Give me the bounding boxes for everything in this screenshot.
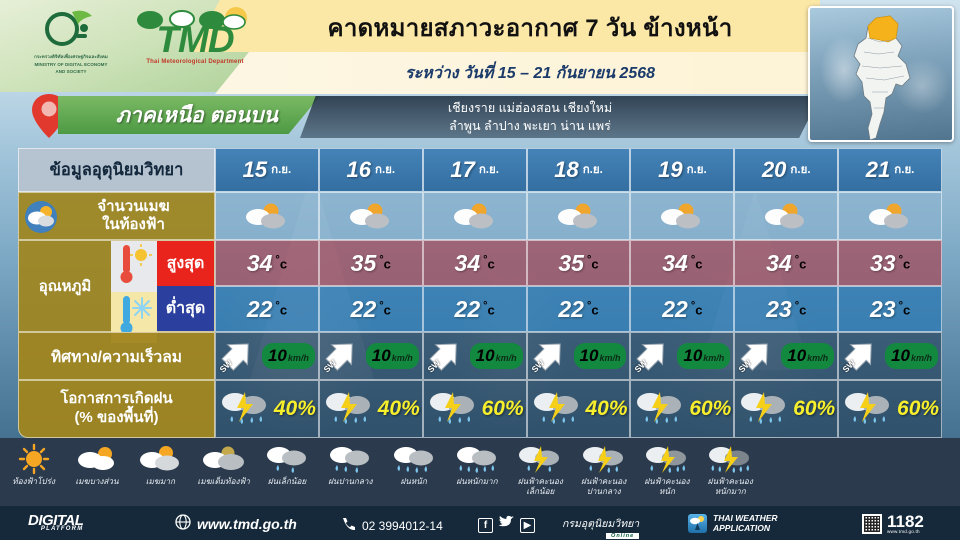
partly-cloudy-icon: [550, 200, 608, 232]
legend-item-overcast: เมฆเต็มท้องฟ้า: [192, 440, 255, 487]
wind-speed-badge: 10 km/h: [677, 343, 730, 369]
day-number: 20: [762, 157, 786, 183]
day-header-4: 19 ก.ย.: [630, 148, 734, 192]
wind-row-label: ทิศทาง/ความเร็วลม: [18, 332, 215, 380]
wind-speed-badge: 10 km/h: [574, 343, 627, 369]
wind-cell-0: SW 10 km/h: [215, 332, 319, 380]
online-badge: Online: [606, 533, 639, 539]
rain-probability: 60%: [897, 397, 939, 421]
rain-probability: 60%: [482, 397, 524, 421]
tmin-value: 23: [766, 296, 792, 323]
storm-very-heavy-icon: [707, 442, 753, 476]
wind-arrow-icon: SW: [738, 336, 778, 376]
tmax-cell-2: 34°c: [423, 240, 527, 286]
rain-probability: 40%: [378, 397, 420, 421]
cloud-label-text: จำนวนเมฆ ในท้องฟ้า: [97, 198, 169, 234]
thailand-map: [808, 6, 954, 142]
wind-speed-badge: 10 km/h: [781, 343, 834, 369]
day-month: ก.ย.: [894, 161, 914, 179]
day-number: 15: [243, 157, 267, 183]
thunderstorm-icon: [426, 386, 480, 432]
rain-cell-6: 60%: [838, 380, 942, 438]
rain-cell-2: 60%: [423, 380, 527, 438]
temp-min-row: 22°c 22°c 22°c 22°c 22°c 23°c 23°c: [215, 286, 942, 332]
tmax-value: 34: [766, 250, 792, 277]
cloud-label-line-2: ในท้องฟ้า: [102, 216, 165, 233]
cloud-cell-6: [838, 192, 942, 240]
legend-strip: ท้องฟ้าโปร่ง เมฆบางส่วน เมฆมาก เมฆเต็มท้…: [0, 438, 960, 506]
thunderstorm-icon: [841, 386, 895, 432]
youtube-icon[interactable]: ▶: [520, 518, 535, 533]
temp-unit: °c: [691, 300, 703, 317]
day-number: 16: [347, 157, 371, 183]
wind-cell-1: SW 10 km/h: [319, 332, 423, 380]
wind-speed-unit: km/h: [288, 353, 309, 363]
tmin-value: 23: [870, 296, 896, 323]
wind-cell-4: SW 10 km/h: [630, 332, 734, 380]
wind-arrow-icon: SW: [427, 336, 467, 376]
legend-label: ฝนฟ้าคะนอง หนักมาก: [708, 477, 753, 497]
tmax-cell-3: 35°c: [527, 240, 631, 286]
app-line-1: THAI WEATHER: [713, 513, 778, 523]
tmin-cell-4: 22°c: [630, 286, 734, 332]
hotline-number: 1182 www.tmd.go.th: [887, 513, 924, 535]
footer-app[interactable]: THAI WEATHER APPLICATION: [688, 514, 778, 534]
rain-probability: 40%: [585, 397, 627, 421]
tmax-value: 34: [662, 250, 688, 277]
thermometer-icons: [111, 241, 157, 331]
wind-speed-unit: km/h: [911, 353, 932, 363]
day-month: ก.ย.: [687, 161, 707, 179]
wind-speed-value: 10: [372, 346, 391, 366]
ministry-mark-icon: [32, 6, 110, 52]
legend-item-light-storm: ฝนฟ้าคะนอง เล็กน้อย: [509, 440, 572, 497]
region-name: ภาคเหนือ ตอนบน: [116, 99, 278, 132]
cloud-sun-2-icon: [137, 442, 183, 476]
temperature-values: 34°c 35°c 34°c 35°c 34°c 34°c 33°c 22°c …: [215, 240, 942, 332]
rain-light-icon: [264, 442, 310, 476]
legend-label: ฝนเล็กน้อย: [268, 477, 306, 487]
legend-item-moderate-storm: ฝนฟ้าคะนอง ปานกลาง: [572, 440, 635, 497]
legend-item-very-heavy-storm: ฝนฟ้าคะนอง หนักมาก: [699, 440, 762, 497]
temp-unit: °c: [795, 254, 807, 271]
wind-row: ทิศทาง/ความเร็วลม SW 10 km/h SW 10: [18, 332, 942, 380]
rain-heavy-icon: [391, 442, 437, 476]
thunderstorm-icon: [737, 386, 791, 432]
day-number: 19: [658, 157, 682, 183]
day-header-5: 20 ก.ย.: [734, 148, 838, 192]
tmin-cell-1: 22°c: [319, 286, 423, 332]
temp-unit: °c: [379, 254, 391, 271]
wind-speed-badge: 10 km/h: [262, 343, 315, 369]
region-banner: ภาคเหนือ ตอนบน: [58, 96, 320, 134]
day-month: ก.ย.: [790, 161, 810, 179]
telephone-number: 02 3994012-14: [362, 519, 443, 533]
cloud-row: จำนวนเมฆ ในท้องฟ้า: [18, 192, 942, 240]
wind-speed-value: 10: [787, 346, 806, 366]
cloud-cell-5: [734, 192, 838, 240]
table-corner-label: ข้อมูลอุตุนิยมวิทยา: [18, 148, 215, 192]
province-line-2: ลำพูน ลำปาง พะเยา น่าน แพร่: [449, 117, 611, 135]
temp-unit: °c: [483, 300, 495, 317]
wind-arrow-icon: SW: [842, 336, 882, 376]
temp-unit: °c: [587, 300, 599, 317]
legend-label: ฝนฟ้าคะนอง ปานกลาง: [581, 477, 626, 497]
wind-speed-unit: km/h: [807, 353, 828, 363]
tmin-value: 22: [558, 296, 584, 323]
wind-cell-6: SW 10 km/h: [838, 332, 942, 380]
legend-item-clear: ท้องฟ้าโปร่ง: [2, 440, 65, 487]
partly-cloudy-icon: [861, 200, 919, 232]
twitter-icon[interactable]: [498, 515, 515, 535]
tmd-subtitle: Thai Meteorological Department: [120, 59, 270, 65]
rain-cell-4: 60%: [630, 380, 734, 438]
storm-light-icon: [517, 442, 563, 476]
legend-label: ฝนปานกลาง: [328, 477, 372, 487]
day-month: ก.ย.: [479, 161, 499, 179]
province-list: เชียงราย แม่ฮ่องสอน เชียงใหม่ ลำพูน ลำปา…: [330, 97, 730, 137]
temperature-row-label: อุณหภูมิ: [18, 240, 215, 332]
wind-cell-3: SW 10 km/h: [527, 332, 631, 380]
tmin-value: 22: [662, 296, 688, 323]
footer-social-links: f ▶: [478, 515, 535, 535]
temp-max-row: 34°c 35°c 34°c 35°c 34°c 34°c 33°c: [215, 240, 942, 286]
temperature-block: อุณหภูมิ: [18, 240, 942, 332]
rain-moderate-icon: [327, 442, 373, 476]
province-line-1: เชียงราย แม่ฮ่องสอน เชียงใหม่: [448, 99, 612, 117]
clouds-icon: [201, 442, 247, 476]
wind-speed-badge: 10 km/h: [366, 343, 419, 369]
thermometer-hot-icon: [111, 241, 157, 292]
partly-cloudy-icon: [342, 200, 400, 232]
day-number: 17: [450, 157, 474, 183]
footer-online-label: กรมอุตุนิยมวิทยา Online: [562, 515, 639, 539]
thailand-map-shape: [840, 12, 930, 142]
rain-probability: 60%: [793, 397, 835, 421]
legend-label: ฝนฟ้าคะนอง หนัก: [644, 477, 689, 497]
day-header-1: 16 ก.ย.: [319, 148, 423, 192]
footer-qr-block: 1182 www.tmd.go.th: [862, 513, 924, 535]
wind-arrow-icon: SW: [531, 336, 571, 376]
weather-forecast-infographic: คาดหมายสภาวะอากาศ 7 วัน ข้างหน้า ระหว่าง…: [0, 0, 960, 540]
rain-probability: 40%: [274, 397, 316, 421]
tmin-cell-6: 23°c: [838, 286, 942, 332]
cloud-row-label: จำนวนเมฆ ในท้องฟ้า: [18, 192, 215, 240]
tmd-logo-icons: [136, 6, 256, 28]
wind-speed-value: 10: [476, 346, 495, 366]
partly-cloudy-icon: [757, 200, 815, 232]
globe-icon: [175, 514, 191, 533]
temp-unit: °c: [483, 254, 495, 271]
wind-arrow-icon: SW: [634, 336, 674, 376]
tmax-cell-0: 34°c: [215, 240, 319, 286]
wind-speed-badge: 10 km/h: [470, 343, 523, 369]
legend-label: เมฆบางส่วน: [75, 477, 118, 487]
rain-row-label: โอกาสการเกิดฝน (% ของพื้นที่): [18, 380, 215, 438]
legend-label: เมฆมาก: [146, 477, 175, 487]
ministry-caption-en: MINISTRY OF DIGITAL ECONOMY AND SOCIETY: [32, 62, 110, 75]
tmin-cell-2: 22°c: [423, 286, 527, 332]
tmin-value: 22: [351, 296, 377, 323]
wind-speed-value: 10: [268, 346, 287, 366]
storm-heavy-icon: [644, 442, 690, 476]
tmax-value: 33: [870, 250, 896, 277]
partly-cloudy-icon: [653, 200, 711, 232]
ministry-caption-th: กระทรวงดิจิทัลเพื่อเศรษฐกิจและสังคม: [32, 54, 110, 60]
rain-cell-1: 40%: [319, 380, 423, 438]
cloud-sun-icon: [25, 201, 57, 233]
cloud-cell-1: [319, 192, 423, 240]
weather-app-icon: [688, 514, 707, 533]
wind-speed-badge: 10 km/h: [885, 343, 938, 369]
legend-item-moderate-rain: ฝนปานกลาง: [319, 440, 382, 487]
rain-cell-0: 40%: [215, 380, 319, 438]
rain-row: โอกาสการเกิดฝน (% ของพื้นที่) 40% 40% 60…: [18, 380, 942, 438]
footer-bar: DIGITAL PLATFORM www.tmd.go.th 02 399401…: [0, 506, 960, 540]
temp-min-label: ต่ำสุด: [157, 286, 214, 331]
wind-cell-5: SW 10 km/h: [734, 332, 838, 380]
page-title: คาดหมายสภาวะอากาศ 7 วัน ข้างหน้า: [250, 6, 810, 48]
wind-speed-unit: km/h: [703, 353, 724, 363]
legend-item-mostly-cloudy: เมฆมาก: [129, 440, 192, 487]
wind-speed-unit: km/h: [496, 353, 517, 363]
tmd-logo: TMD Thai Meteorological Department: [120, 4, 270, 80]
wind-arrow-icon: SW: [219, 336, 259, 376]
forecast-table: ข้อมูลอุตุนิยมวิทยา 15 ก.ย. 16 ก.ย. 17 ก…: [18, 148, 942, 438]
day-month: ก.ย.: [271, 161, 291, 179]
temp-max-label: สูงสุด: [157, 241, 214, 286]
storm-moderate-icon: [581, 442, 627, 476]
rain-label-text: โอกาสการเกิดฝน (% ของพื้นที่): [60, 390, 172, 428]
cloud-cell-3: [527, 192, 631, 240]
wind-speed-value: 10: [683, 346, 702, 366]
digital-platform-logo: DIGITAL PLATFORM: [28, 512, 83, 532]
legend-item-heavy-storm: ฝนฟ้าคะนอง หนัก: [635, 440, 698, 497]
day-number: 21: [866, 157, 890, 183]
ministry-logo: กระทรวงดิจิทัลเพื่อเศรษฐกิจและสังคม MINI…: [32, 6, 110, 76]
wind-speed-value: 10: [580, 346, 599, 366]
temp-unit: °c: [899, 254, 911, 271]
temp-unit: °c: [691, 254, 703, 271]
qr-code-icon: [862, 514, 882, 534]
day-month: ก.ย.: [375, 161, 395, 179]
day-header-0: 15 ก.ย.: [215, 148, 319, 192]
phone-icon: [340, 516, 356, 535]
tmin-value: 22: [247, 296, 273, 323]
thunderstorm-icon: [530, 386, 584, 432]
cloud-sun-icon: [74, 442, 120, 476]
tmax-cell-6: 33°c: [838, 240, 942, 286]
rain-label-line-2: (% ของพื้นที่): [74, 409, 158, 426]
legend-label: ท้องฟ้าโปร่ง: [12, 477, 55, 487]
day-number: 18: [554, 157, 578, 183]
cloud-label-line-1: จำนวนเมฆ: [97, 198, 169, 215]
tmax-cell-5: 34°c: [734, 240, 838, 286]
wind-speed-value: 10: [891, 346, 910, 366]
wind-speed-unit: km/h: [599, 353, 620, 363]
tmax-cell-4: 34°c: [630, 240, 734, 286]
legend-label: ฝนหนักมาก: [456, 477, 497, 487]
partly-cloudy-icon: [238, 200, 296, 232]
sun-icon: [17, 442, 51, 476]
wind-speed-unit: km/h: [392, 353, 413, 363]
legend-label: เมฆเต็มท้องฟ้า: [197, 477, 250, 487]
temp-unit: °c: [379, 300, 391, 317]
day-header-3: 18 ก.ย.: [527, 148, 631, 192]
legend-label: ฝนหนัก: [400, 477, 426, 487]
page-subtitle: ระหว่าง วันที่ 15 – 21 กันยายน 2568: [250, 56, 810, 90]
legend-item-heavy-rain: ฝนหนัก: [382, 440, 445, 487]
legend-item-partly-cloudy: เมฆบางส่วน: [65, 440, 128, 487]
footer-website[interactable]: www.tmd.go.th: [175, 514, 297, 533]
facebook-icon[interactable]: f: [478, 518, 493, 533]
legend-item-light-rain: ฝนเล็กน้อย: [255, 440, 318, 487]
tmax-value: 34: [455, 250, 481, 277]
rain-cell-3: 40%: [527, 380, 631, 438]
tmax-cell-1: 35°c: [319, 240, 423, 286]
tmin-cell-5: 23°c: [734, 286, 838, 332]
temp-unit: °c: [275, 254, 287, 271]
thunderstorm-icon: [633, 386, 687, 432]
day-month: ก.ย.: [583, 161, 603, 179]
day-header-6: 21 ก.ย.: [838, 148, 942, 192]
online-title: กรมอุตุนิยมวิทยา: [562, 515, 639, 532]
tmin-cell-3: 22°c: [527, 286, 631, 332]
temp-unit: °c: [899, 300, 911, 317]
rain-cell-5: 60%: [734, 380, 838, 438]
cloud-cell-0: [215, 192, 319, 240]
legend-label: ฝนฟ้าคะนอง เล็กน้อย: [518, 477, 563, 497]
temperature-tags: สูงสุด ต่ำสุด: [157, 241, 214, 331]
rain-probability: 60%: [689, 397, 731, 421]
app-line-2: APPLICATION: [713, 523, 770, 533]
app-name: THAI WEATHER APPLICATION: [713, 514, 778, 534]
legend-items: ท้องฟ้าโปร่ง เมฆบางส่วน เมฆมาก เมฆเต็มท้…: [2, 440, 762, 504]
table-header-row: ข้อมูลอุตุนิยมวิทยา 15 ก.ย. 16 ก.ย. 17 ก…: [18, 148, 942, 192]
cloud-cell-4: [630, 192, 734, 240]
tmax-value: 34: [247, 250, 273, 277]
footer-telephone: 02 3994012-14: [340, 516, 443, 535]
tmin-value: 22: [455, 296, 481, 323]
qr-caption: www.tmd.go.th: [887, 530, 924, 535]
cloud-cell-2: [423, 192, 527, 240]
day-header-2: 17 ก.ย.: [423, 148, 527, 192]
temp-unit: °c: [587, 254, 599, 271]
thunderstorm-icon: [218, 386, 272, 432]
legend-item-very-heavy-rain: ฝนหนักมาก: [445, 440, 508, 487]
rain-label-line-1: โอกาสการเกิดฝน: [60, 390, 172, 407]
temperature-label: อุณหภูมิ: [19, 241, 111, 331]
tmax-value: 35: [558, 250, 584, 277]
tmax-value: 35: [351, 250, 377, 277]
temp-unit: °c: [275, 300, 287, 317]
tmin-cell-0: 22°c: [215, 286, 319, 332]
partly-cloudy-icon: [446, 200, 504, 232]
website-url: www.tmd.go.th: [197, 516, 297, 532]
thunderstorm-icon: [322, 386, 376, 432]
rain-very-heavy-icon: [454, 442, 500, 476]
wind-arrow-icon: SW: [323, 336, 363, 376]
temp-unit: °c: [795, 300, 807, 317]
wind-cell-2: SW 10 km/h: [423, 332, 527, 380]
